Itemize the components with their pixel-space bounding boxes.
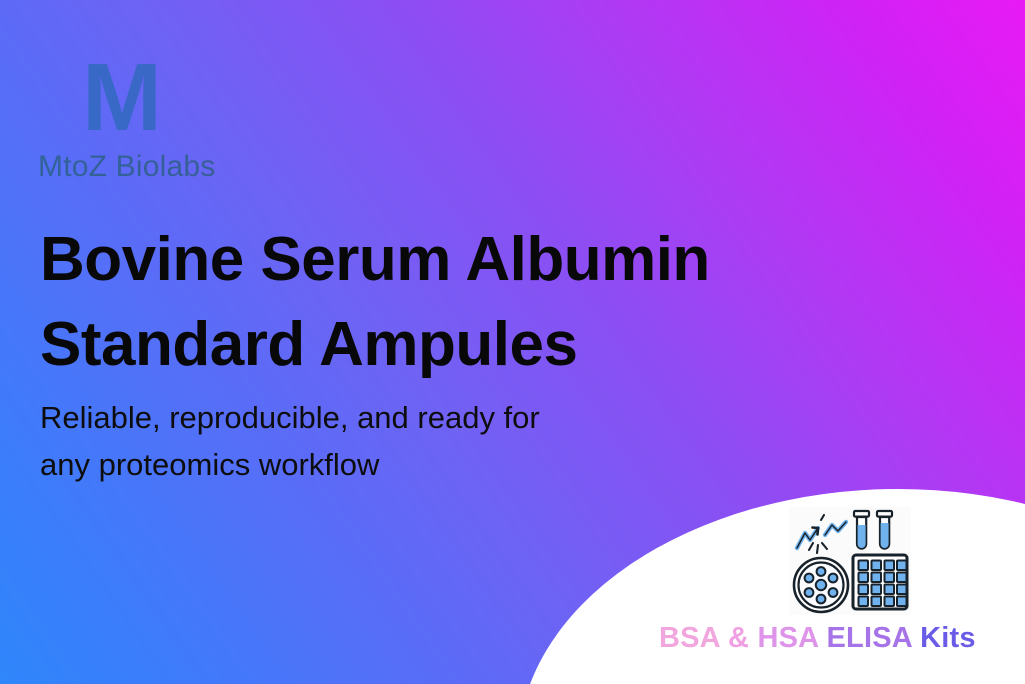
headline-line-2: Standard Ampules (40, 303, 710, 388)
product-caption: BSA & HSA ELISA Kits (659, 622, 976, 655)
caption-word-kits: Kits (920, 622, 976, 654)
caption-word-ampersand: & (728, 622, 749, 654)
microplate-icon (853, 555, 907, 609)
test-tubes-icon (854, 511, 892, 549)
subtitle-line-2: any proteomics workflow (40, 441, 540, 488)
logo-mark-letter: M (82, 52, 215, 144)
caption-word-bsa: BSA (659, 622, 720, 654)
headline-line-1: Bovine Serum Albumin (40, 218, 710, 303)
caption-word-elisa: ELISA (826, 622, 911, 654)
caption-word-hsa: HSA (757, 622, 818, 654)
promo-banner: M MtoZ Biolabs Bovine Serum Albumin Stan… (0, 0, 1025, 684)
page-title: Bovine Serum Albumin Standard Ampules (40, 218, 710, 388)
logo-wordmark: MtoZ Biolabs (38, 150, 215, 184)
page-subtitle: Reliable, reproducible, and ready for an… (40, 394, 540, 488)
product-icon-cluster (789, 507, 911, 615)
subtitle-line-1: Reliable, reproducible, and ready for (40, 394, 540, 441)
trend-arrow-icon (797, 515, 846, 553)
brand-logo[interactable]: M MtoZ Biolabs (38, 52, 215, 184)
petri-dish-icon (794, 558, 848, 612)
